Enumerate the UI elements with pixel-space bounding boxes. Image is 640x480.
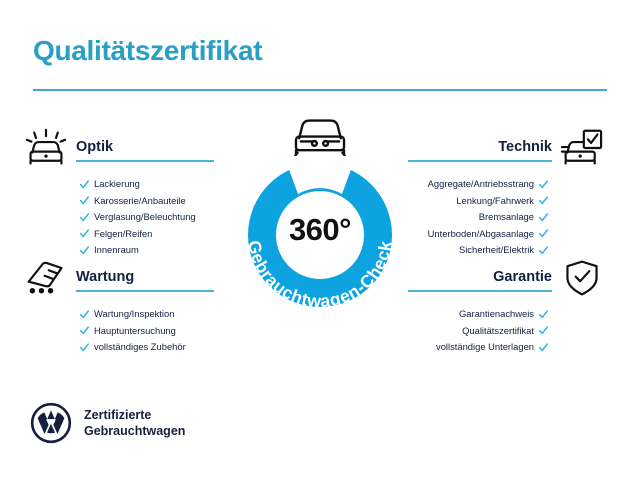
list-item: Innenraum (80, 242, 214, 259)
section-underline-technik (408, 160, 552, 162)
list-item-label: vollständiges Zubehör (94, 339, 186, 356)
checklist-garantie: Garantienachweis Qualitätszertifikat vol… (408, 306, 604, 356)
car-checkbox-icon (560, 128, 604, 168)
footer-text: Zertifizierte Gebrauchtwagen (84, 407, 185, 439)
section-underline-garantie (408, 290, 552, 292)
check-icon (539, 246, 548, 255)
list-item-label: Aggregate/Antriebsstrang (428, 176, 534, 193)
section-optik: Optik Lackierung Karosserie/Anbauteile V… (24, 128, 214, 259)
check-icon (80, 229, 89, 238)
check-icon (80, 326, 89, 335)
list-item-label: Karosserie/Anbauteile (94, 193, 186, 210)
check-icon (539, 213, 548, 222)
section-garantie: Garantie Garantienachweis Qualitätszerti… (408, 258, 604, 356)
page-title: Qualitätszertifikat (33, 35, 262, 67)
list-item-label: Qualitätszertifikat (462, 323, 534, 340)
list-item: Sicherheit/Elektrik (459, 242, 548, 259)
list-item-label: Lenkung/Fahrwerk (456, 193, 534, 210)
check-icon (80, 213, 89, 222)
section-wartung: Wartung Wartung/Inspektion Hauptuntersuc… (24, 258, 214, 356)
check-icon (80, 196, 89, 205)
check-icon (80, 246, 89, 255)
list-item: Qualitätszertifikat (462, 323, 548, 340)
list-item-label: Wartung/Inspektion (94, 306, 174, 323)
badge-360-gebrauchtwagen-check: Gebrauchtwagen-Check 360° (228, 150, 412, 320)
badge-center-label: 360° (228, 212, 412, 248)
check-icon (539, 326, 548, 335)
check-icon (539, 180, 548, 189)
list-item-label: Sicherheit/Elektrik (459, 242, 534, 259)
list-item-label: Verglasung/Beleuchtung (94, 209, 196, 226)
list-item: Aggregate/Antriebsstrang (428, 176, 548, 193)
check-icon (539, 196, 548, 205)
car-shine-icon (24, 128, 68, 168)
list-item: Lenkung/Fahrwerk (456, 193, 548, 210)
check-icon (539, 310, 548, 319)
vw-footer-lockup: Zertifizierte Gebrauchtwagen (30, 402, 185, 444)
list-item-label: Innenraum (94, 242, 139, 259)
list-item-label: Hauptuntersuchung (94, 323, 176, 340)
list-item: Unterboden/Abgasanlage (428, 226, 548, 243)
list-item-label: Bremsanlage (479, 209, 534, 226)
list-item: vollständiges Zubehör (80, 339, 214, 356)
list-item: Verglasung/Beleuchtung (80, 209, 214, 226)
list-item: Garantienachweis (459, 306, 548, 323)
section-title-wartung: Wartung (76, 268, 214, 286)
list-item: Lackierung (80, 176, 214, 193)
footer-line-1: Zertifizierte (84, 407, 185, 423)
list-item: Karosserie/Anbauteile (80, 193, 214, 210)
checklist-optik: Lackierung Karosserie/Anbauteile Verglas… (24, 176, 214, 259)
checklist-wartung: Wartung/Inspektion Hauptuntersuchung vol… (24, 306, 214, 356)
shield-check-icon (560, 258, 604, 298)
list-item-label: Lackierung (94, 176, 140, 193)
footer-line-2: Gebrauchtwagen (84, 423, 185, 439)
list-item: Hauptuntersuchung (80, 323, 214, 340)
check-icon (80, 343, 89, 352)
list-item-label: Garantienachweis (459, 306, 534, 323)
check-icon (539, 229, 548, 238)
section-title-garantie: Garantie (408, 268, 552, 286)
section-underline-wartung (76, 290, 214, 292)
section-title-technik: Technik (408, 138, 552, 156)
check-icon (80, 180, 89, 189)
check-icon (539, 343, 548, 352)
list-item: vollständige Unterlagen (436, 339, 548, 356)
vw-roundel-icon (30, 402, 72, 444)
header-divider (33, 89, 607, 91)
list-item-label: Felgen/Reifen (94, 226, 152, 243)
list-item: Bremsanlage (479, 209, 548, 226)
section-technik: Technik Aggregate/Antriebsstrang Lenkung… (408, 128, 604, 259)
list-item: Felgen/Reifen (80, 226, 214, 243)
check-icon (80, 310, 89, 319)
section-title-optik: Optik (76, 138, 214, 156)
list-item: Wartung/Inspektion (80, 306, 214, 323)
car-lift-icon (24, 258, 68, 298)
list-item-label: Unterboden/Abgasanlage (428, 226, 534, 243)
section-underline-optik (76, 160, 214, 162)
checklist-technik: Aggregate/Antriebsstrang Lenkung/Fahrwer… (408, 176, 604, 259)
list-item-label: vollständige Unterlagen (436, 339, 534, 356)
